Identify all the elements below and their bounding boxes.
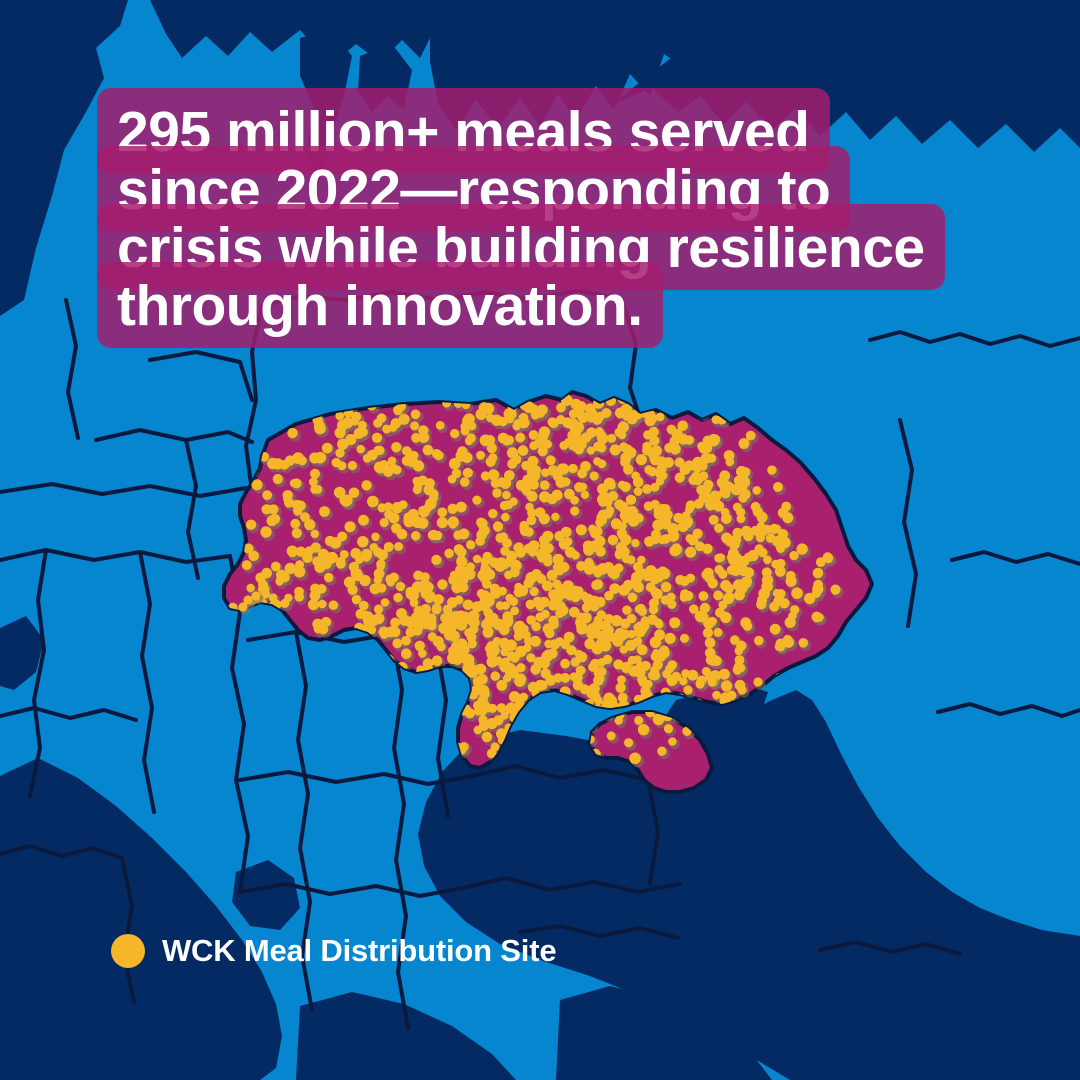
legend: WCK Meal Distribution Site bbox=[111, 934, 556, 968]
headline-text: 295 million+ meals served since 2022—res… bbox=[97, 88, 945, 348]
headline-banner: 295 million+ meals served since 2022—res… bbox=[97, 103, 947, 335]
legend-marker-dot-icon bbox=[111, 934, 145, 968]
legend-item-label: WCK Meal Distribution Site bbox=[162, 934, 556, 968]
infographic-map: 295 million+ meals served since 2022—res… bbox=[0, 0, 1080, 1080]
